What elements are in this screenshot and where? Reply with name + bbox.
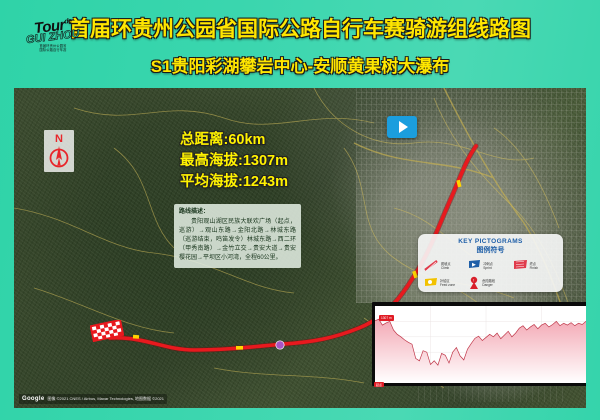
key-pictograms-card: KEY PICTOGRAMS 图例符号 爬坡点 Climb ▶ — [418, 234, 563, 292]
logo-line-cn-2: 国际公路自行车赛 — [39, 48, 66, 52]
satellite-map[interactable]: N 总距离:60km 最高海拔:1307m 平均海拔:1243m 路线描述： 贵… — [14, 88, 586, 408]
legend-label-en: Climb — [441, 266, 451, 270]
compass-label: N — [55, 134, 63, 144]
legend-label-en: Sprint — [483, 266, 493, 270]
svg-text:▶: ▶ — [472, 262, 476, 268]
legend-item-climb[interactable]: 爬坡点 Climb — [424, 257, 468, 274]
play-icon — [399, 121, 408, 133]
route-description-title: 路线描述： — [179, 208, 296, 217]
page-subtitle: S1贵阳彩湖攀岩中心-安顺黄果树大瀑布 — [151, 52, 449, 77]
legend-label-cn: 冲刺点 — [483, 262, 493, 266]
stat-avg-elevation: 平均海拔:1243m — [180, 172, 288, 193]
map-attribution: Google 图像 ©2021 CNES / Airbus, Maxar Tec… — [19, 394, 167, 404]
compass-needle-icon — [48, 145, 70, 169]
elevation-plot-area: 1307 m — [375, 306, 586, 383]
start-label-badge: 起点 — [374, 382, 384, 387]
legend-label-cn: 危险路段 — [482, 279, 495, 283]
route-stats: 总距离:60km 最高海拔:1307m 平均海拔:1243m — [180, 130, 288, 193]
legend-items: 爬坡点 Climb ▶ 冲刺点 Sprint — [424, 257, 557, 291]
route-description-body: 贵阳观山湖区民族大联欢广场（起点，巡游）→观山东路→金阳北路→林城东路（巡游结束… — [179, 218, 296, 263]
legend-item-feed-zone[interactable]: 补给区 Feed zone — [424, 274, 468, 291]
checkered-flag-icon — [90, 320, 124, 342]
title-row: 首届环贵州公园省国际公路自行车赛骑游组线路图 — [0, 13, 600, 43]
climb-icon — [424, 259, 439, 272]
legend-title-en: KEY PICTOGRAMS — [424, 238, 557, 246]
legend-title-cn: 图例符号 — [424, 246, 557, 255]
legend-label-en: Feed zone — [440, 283, 455, 287]
stat-total-distance: 总距离:60km — [180, 130, 288, 151]
google-logo: Google — [22, 396, 44, 402]
elevation-svg — [375, 306, 586, 383]
legend-label-en: Finish — [530, 266, 539, 270]
legend-label-cn: 爬坡点 — [441, 262, 451, 266]
play-video-button[interactable] — [387, 116, 417, 138]
route-description-card: 路线描述： 贵阳观山湖区民族大联欢广场（起点，巡游）→观山东路→金阳北路→林城东… — [174, 204, 301, 268]
page-title: 首届环贵州公园省国际公路自行车赛骑游组线路图 — [69, 13, 531, 43]
legend-label-en: Danger — [482, 283, 495, 287]
legend-item-sprint[interactable]: ▶ 冲刺点 Sprint — [468, 257, 512, 274]
svg-text:!: ! — [473, 277, 474, 282]
feed-zone-icon — [424, 277, 438, 289]
legend-item-finish[interactable]: 终点 Finish — [513, 257, 557, 274]
finish-flag-icon — [513, 259, 528, 272]
compass-north-icon: N — [44, 130, 74, 172]
page-header: Tourde GUI ZHOU 首届环贵州公园省 国际公路自行车赛 首届环贵州公… — [0, 0, 600, 86]
stat-max-elevation: 最高海拔:1307m — [180, 151, 288, 172]
peak-elevation-badge: 1307 m — [379, 315, 394, 321]
elevation-profile-chart: 1307 m 起点 — [372, 302, 586, 386]
legend-item-danger[interactable]: ! 危险路段 Danger — [468, 274, 512, 291]
attribution-text: 图像 ©2021 CNES / Airbus, Maxar Technologi… — [47, 396, 164, 402]
sprint-flag-icon: ▶ — [468, 259, 481, 272]
event-logo: Tourde GUI ZHOU 首届环贵州公园省 国际公路自行车赛 — [22, 13, 84, 57]
danger-icon: ! — [468, 276, 480, 290]
